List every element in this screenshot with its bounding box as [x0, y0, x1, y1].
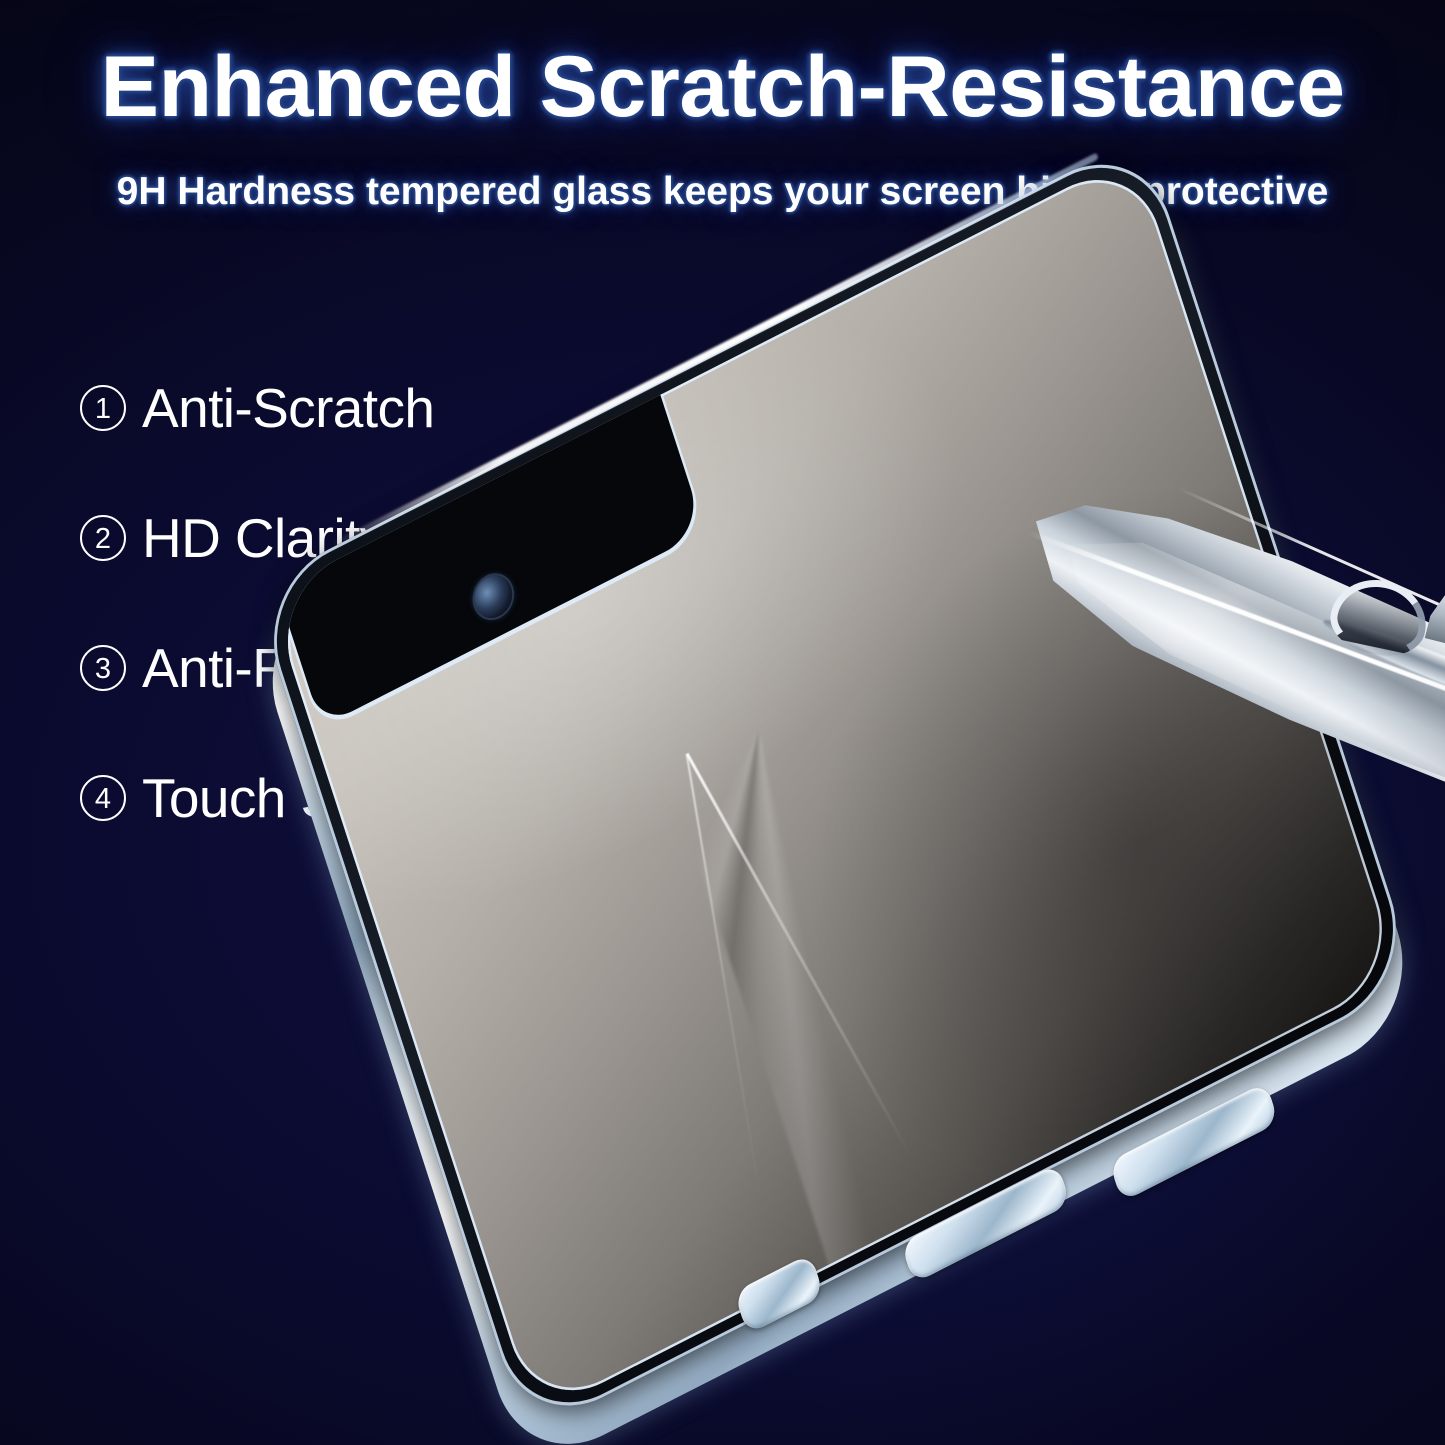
- page-title: Enhanced Scratch-Resistance: [0, 38, 1445, 137]
- circled-number-icon: 1: [80, 385, 126, 431]
- steel-knife-blade: [851, 322, 1445, 1226]
- list-item: 2 HD Clarity: [80, 502, 640, 574]
- feature-list: 1 Anti-Scratch 2 HD Clarity 3 Anti-Finge…: [80, 372, 640, 892]
- feature-label: Anti-Scratch: [142, 376, 434, 440]
- circled-number-icon: 2: [80, 515, 126, 561]
- blood-groove-fuller: [1319, 609, 1445, 745]
- knife-cutting-edge: [1029, 531, 1445, 790]
- volume-down-button[interactable]: [1109, 1082, 1279, 1202]
- page-subtitle: 9H Hardness tempered glass keeps your sc…: [0, 170, 1445, 214]
- gut-hook-notch: [1324, 571, 1433, 663]
- knife-blade-shading: [1046, 491, 1445, 889]
- circled-number-icon: 3: [80, 645, 126, 691]
- volume-up-button[interactable]: [901, 1163, 1071, 1283]
- knife-reflection-edge-secondary: [686, 754, 761, 1194]
- circled-number-icon: 4: [80, 775, 126, 821]
- list-item: 4 Touch Sensitive: [80, 762, 640, 834]
- knife-reflection-edge: [686, 753, 913, 1158]
- promo-banner: Enhanced Scratch-Resistance 9H Hardness …: [0, 0, 1445, 1445]
- mute-switch-button[interactable]: [734, 1253, 824, 1334]
- knife-reflection: [666, 572, 1209, 1283]
- knife-blade-body: [1006, 428, 1445, 916]
- list-item: 1 Anti-Scratch: [80, 372, 640, 444]
- feature-label: HD Clarity: [142, 506, 387, 570]
- sawback-serrated-spine: [1425, 580, 1445, 725]
- list-item: 3 Anti-Fingerprint: [80, 632, 640, 704]
- feature-label: Anti-Fingerprint: [142, 636, 508, 700]
- feature-label: Touch Sensitive: [142, 766, 518, 830]
- knife-spine-highlight: [1177, 487, 1445, 734]
